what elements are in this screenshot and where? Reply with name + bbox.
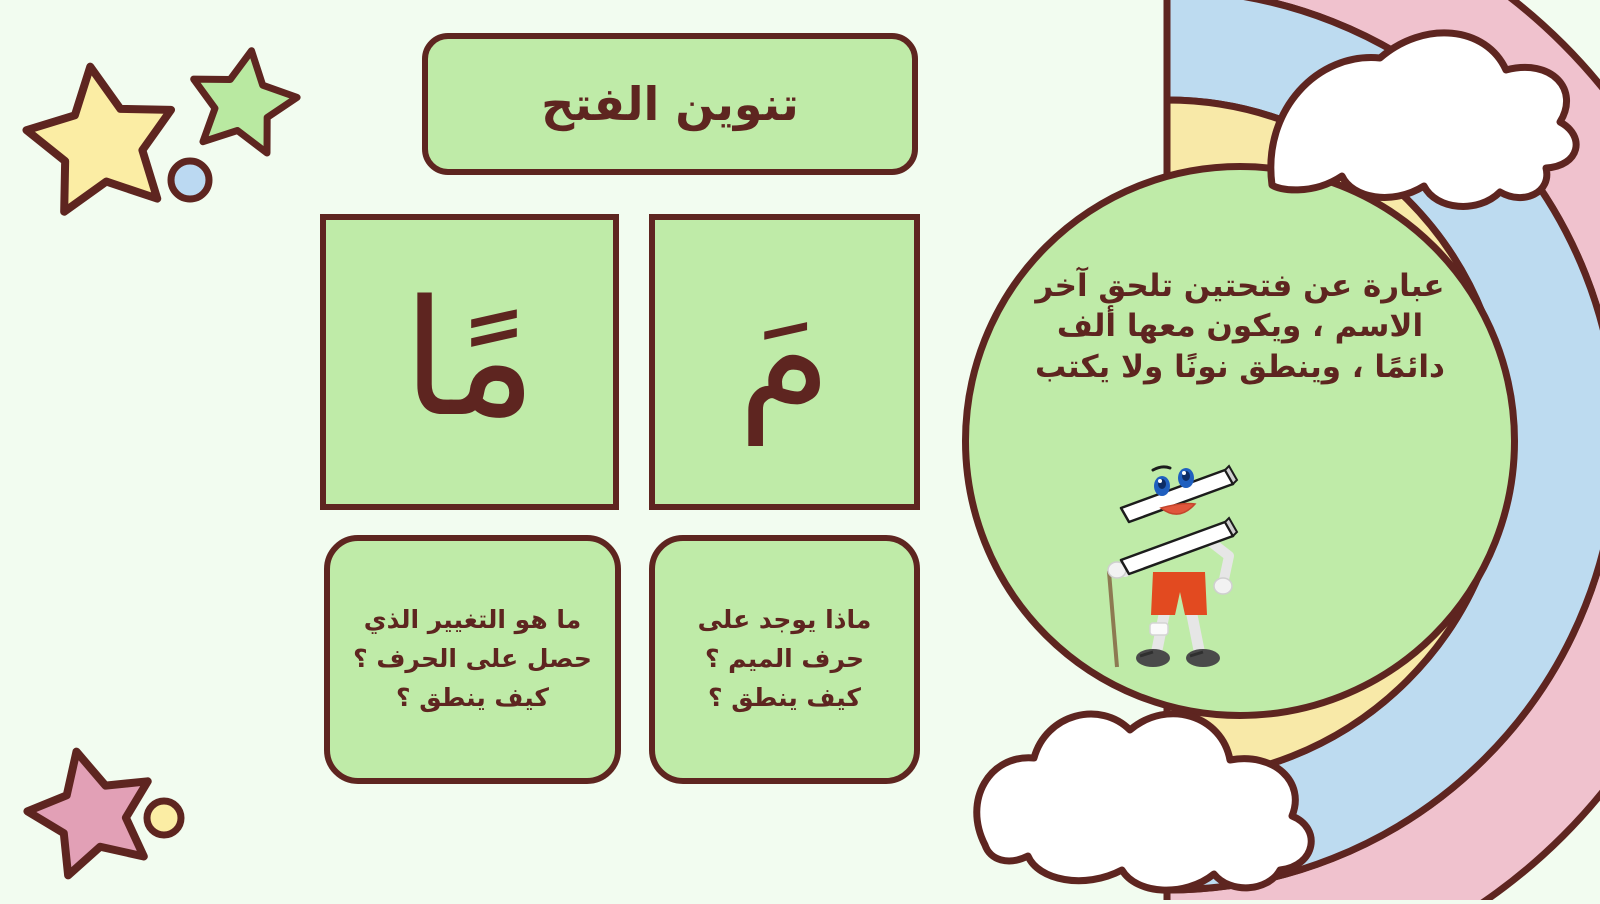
letter-card-meem-tanween-fath: مًا [320, 214, 619, 510]
tanween-fatha-mascot [1087, 460, 1277, 675]
star-pink [16, 737, 165, 881]
circle-blue [171, 161, 209, 199]
definition-circle: عبارة عن فتحتين تلحق آخر الاسم ، ويكون م… [962, 163, 1518, 719]
question-text-meem: ماذا يوجد على حرف الميم ؟ كيف ينطق ؟ [698, 601, 872, 717]
page-title: تنوين الفتح [541, 81, 799, 127]
question-card-meem: ماذا يوجد على حرف الميم ؟ كيف ينطق ؟ [649, 535, 920, 784]
letter-card-meem-fatha: مَ [649, 214, 920, 510]
cane-icon [1109, 572, 1117, 667]
star-yellow [19, 56, 183, 215]
letter-glyph-maa: مًا [402, 279, 536, 439]
title-box: تنوين الفتح [422, 33, 918, 175]
circle-yellow [147, 801, 181, 835]
cloud-bottom [977, 714, 1311, 890]
question-text-change: ما هو التغيير الذي حصل على الحرف ؟ كيف ي… [353, 601, 592, 717]
letter-glyph-ma: مَ [738, 284, 831, 434]
star-green [183, 42, 303, 157]
definition-text: عبارة عن فتحتين تلحق آخر الاسم ، ويكون م… [1025, 266, 1455, 387]
slide-canvas: عبارة عن فتحتين تلحق آخر الاسم ، ويكون م… [0, 0, 1600, 900]
question-card-change: ما هو التغيير الذي حصل على الحرف ؟ كيف ي… [324, 535, 621, 784]
